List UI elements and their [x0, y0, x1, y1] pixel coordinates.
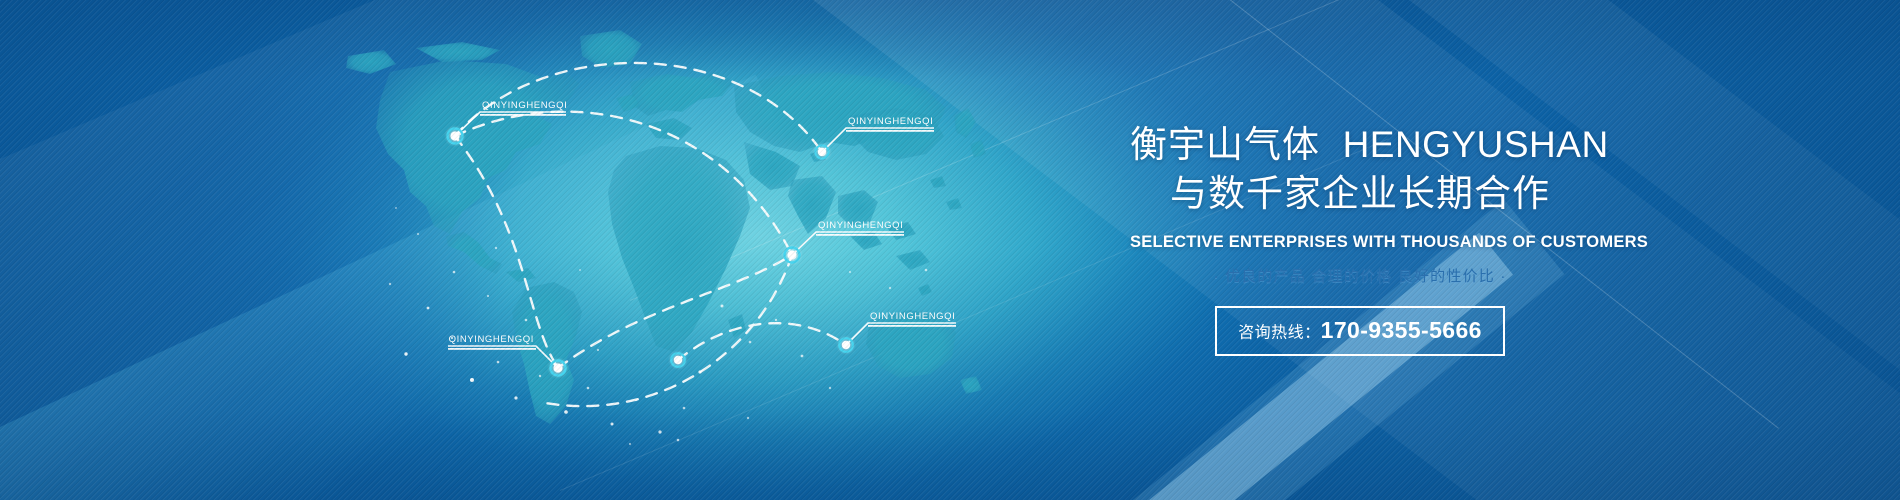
- headline-brand-en: HENGYUSHAN: [1343, 124, 1609, 165]
- map-node-africa-south[interactable]: [668, 350, 688, 370]
- subtitle-english: SELECTIVE ENTERPRISES WITH THOUSANDS OF …: [1130, 233, 1590, 252]
- map-node-label: QINYINGHENGQI: [848, 116, 933, 127]
- promo-banner: QINYINGHENGQI QINYINGHENGQI QINYINGHENGQ…: [0, 0, 1900, 500]
- world-map: QINYINGHENGQI QINYINGHENGQI QINYINGHENGQ…: [330, 20, 1050, 470]
- hotline-number: 170-9355-5666: [1321, 317, 1482, 343]
- promo-text-block: 衡宇山气体 HENGYUSHAN 与数千家企业长期合作 SELECTIVE EN…: [1130, 120, 1590, 356]
- map-node-south-asia[interactable]: QINYINGHENGQI: [781, 220, 904, 266]
- map-node-label: QINYINGHENGQI: [870, 311, 955, 322]
- hotline-box[interactable]: 咨询热线：170-9355-5666: [1215, 306, 1505, 356]
- map-node-label: QINYINGHENGQI: [449, 334, 534, 345]
- map-node-label: QINYINGHENGQI: [818, 220, 903, 231]
- hotline-label: 咨询热线：: [1238, 325, 1321, 342]
- subtitle-chinese: · 优良的产品 合理的价格 良好的性价比 ·: [1130, 265, 1590, 286]
- headline-brand-cn: 衡宇山气体: [1130, 124, 1320, 165]
- headline-line-2: 与数千家企业长期合作: [1130, 169, 1590, 218]
- headline-line-1: 衡宇山气体 HENGYUSHAN: [1130, 120, 1590, 169]
- map-node-label: QINYINGHENGQI: [482, 100, 567, 111]
